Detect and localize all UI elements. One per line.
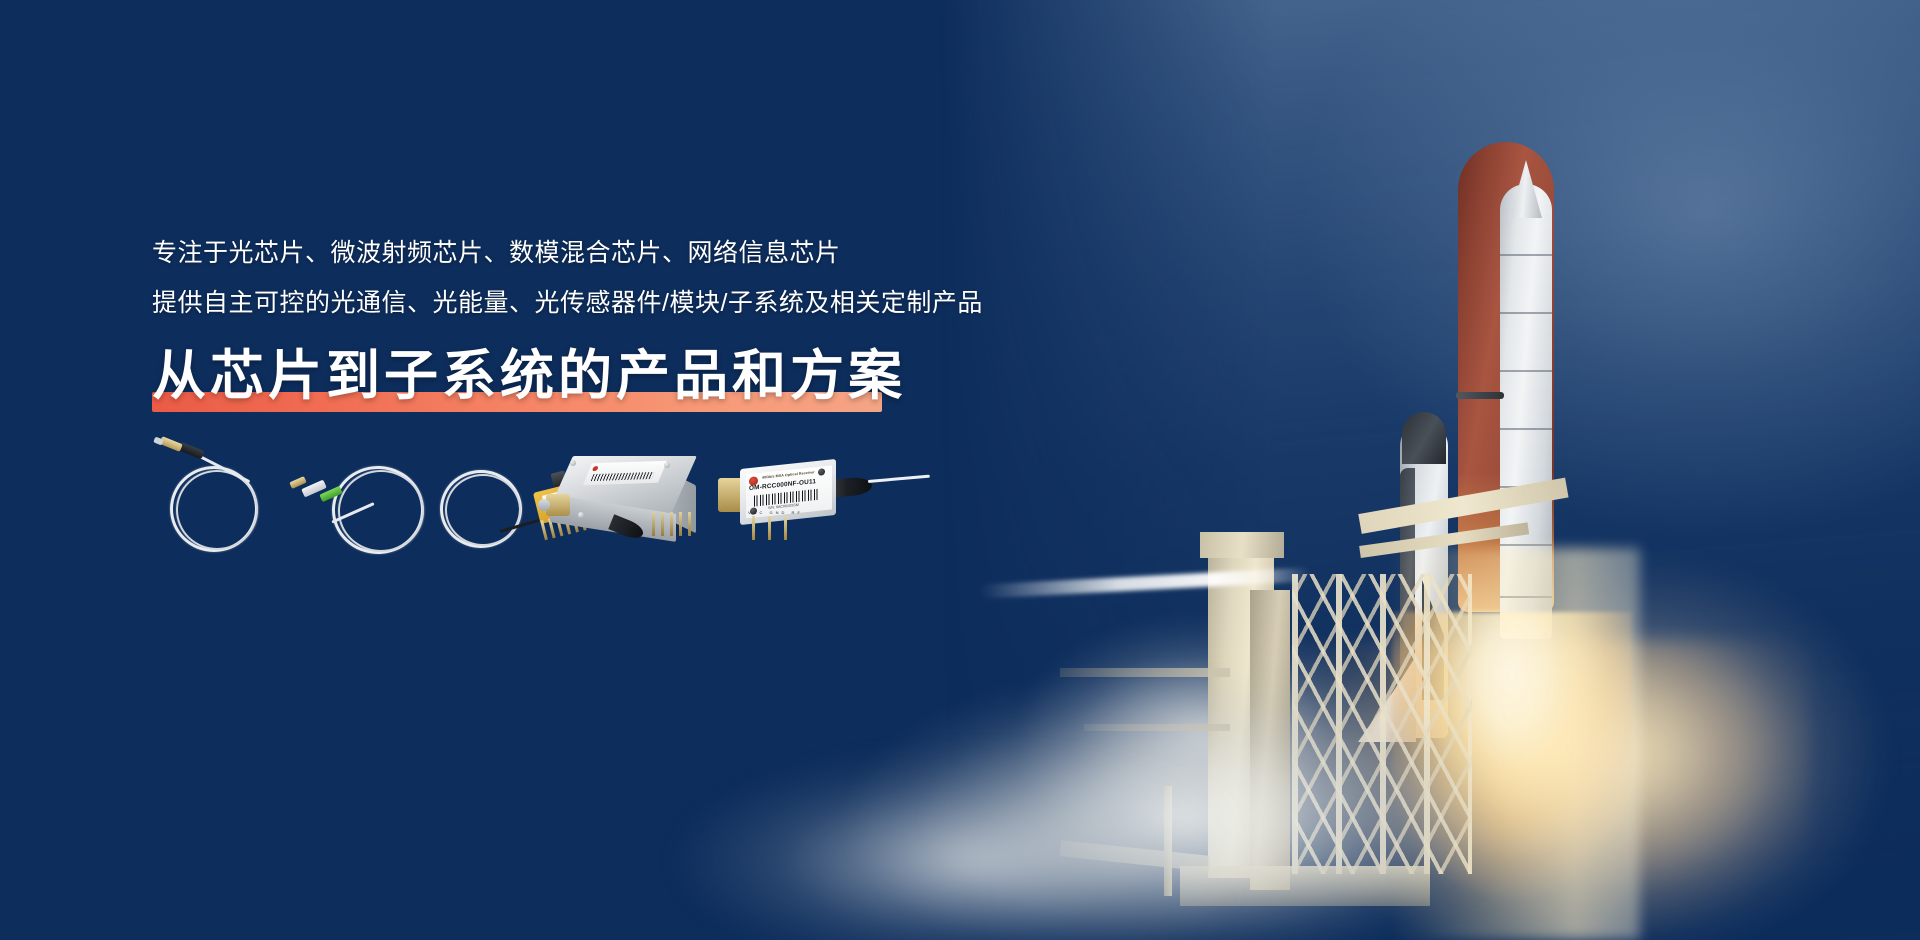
- subtitle-line-2: 提供自主可控的光通信、光能量、光传感器件/模块/子系统及相关定制产品: [152, 278, 1152, 328]
- product-image-strip: 40Gb/s MSA Optical Receiver OM-RCC000NF-…: [140, 432, 1020, 562]
- product-rf-metal-module: [548, 450, 708, 560]
- banner-copy: 专注于光芯片、微波射频芯片、数模混合芯片、网络信息芯片 提供自主可控的光通信、光…: [152, 228, 1152, 420]
- product-optical-receiver-module: 40Gb/s MSA Optical Receiver OM-RCC000NF-…: [718, 452, 928, 564]
- headline-block: 从芯片到子系统的产品和方案: [152, 346, 892, 420]
- receiver-pin-labels: VCC GND RF: [748, 510, 803, 515]
- page-title: 从芯片到子系统的产品和方案: [152, 346, 906, 406]
- attach-strut: [1456, 392, 1504, 399]
- hero-banner: 专注于光芯片、微波射频芯片、数模混合芯片、网络信息芯片 提供自主可控的光通信、光…: [0, 0, 1920, 940]
- smoke-cloud-left: [600, 712, 1220, 940]
- subtitle-line-1: 专注于光芯片、微波射频芯片、数模混合芯片、网络信息芯片: [152, 228, 1152, 278]
- product-fiber-optic-pigtail-lc: [154, 438, 314, 558]
